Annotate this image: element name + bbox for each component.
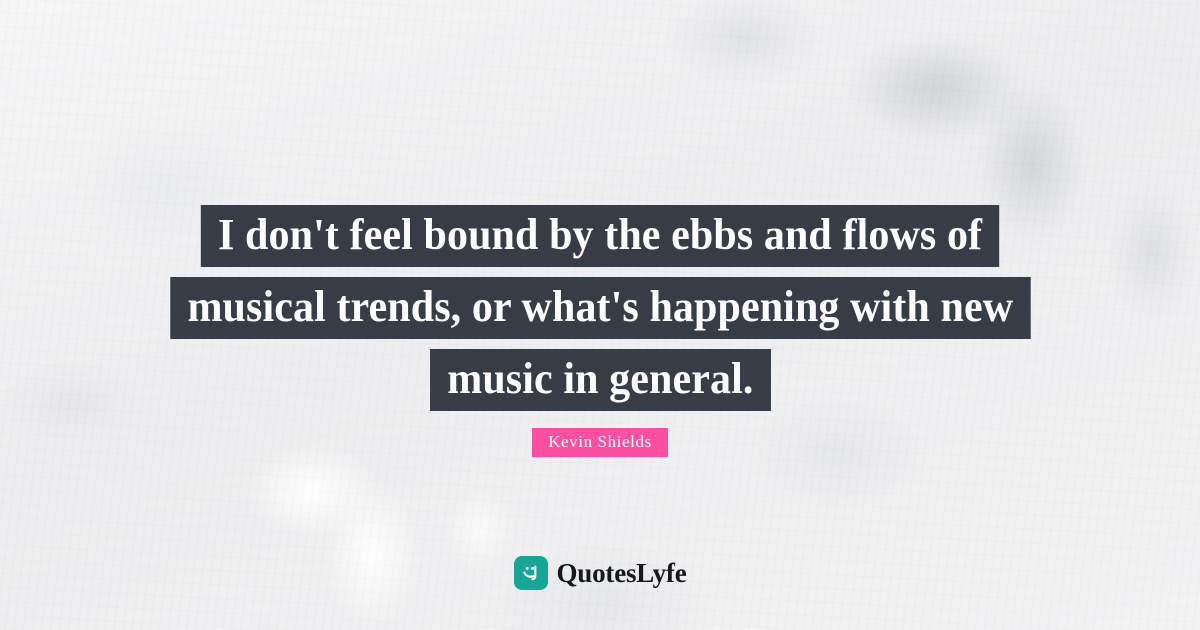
quote-line-2: musical trends, or what's happening with…	[170, 277, 1030, 339]
author-row: Kevin Shields	[0, 428, 1200, 457]
quote-smiley-icon	[514, 556, 548, 590]
quote-card: I don't feel bound by the ebbs and flows…	[0, 0, 1200, 630]
brand-wordmark: QuotesLyfe	[557, 556, 687, 590]
quote-text-block: I don't feel bound by the ebbs and flows…	[0, 205, 1200, 411]
quote-line-3: music in general.	[430, 349, 771, 411]
brand-logo[interactable]: QuotesLyfe	[0, 556, 1200, 590]
quote-line-1: I don't feel bound by the ebbs and flows…	[201, 205, 1000, 267]
author-name-badge[interactable]: Kevin Shields	[532, 428, 668, 457]
